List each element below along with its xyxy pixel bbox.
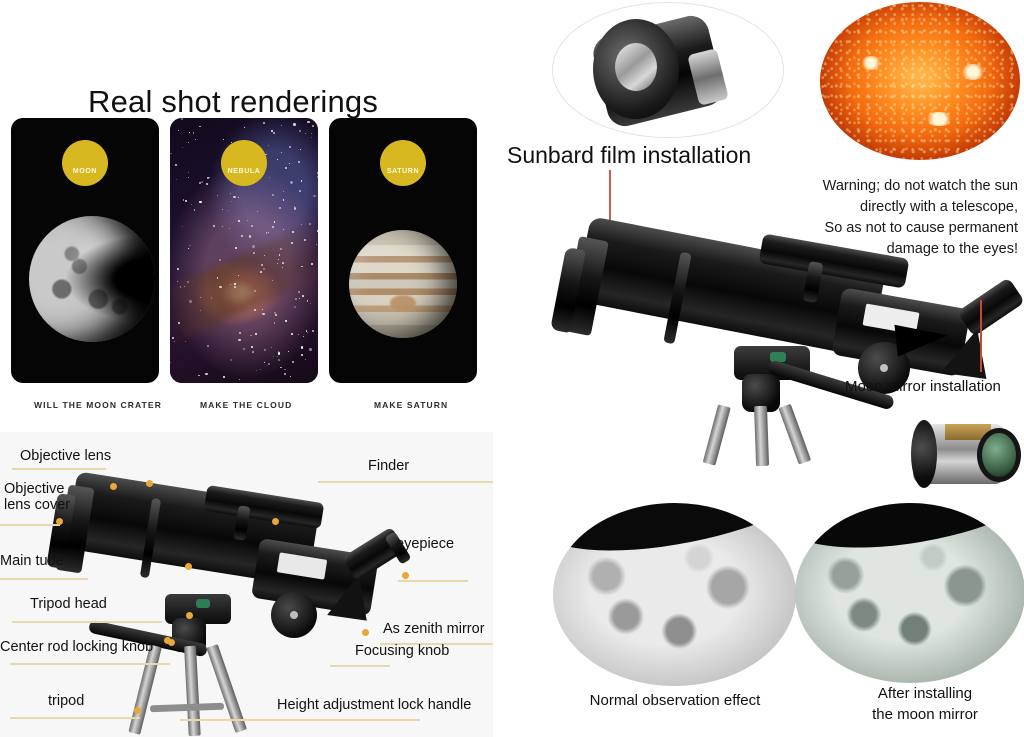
render-caption-nebula: MAKE THE CLOUD xyxy=(200,400,292,410)
photo-knob-center xyxy=(880,364,888,372)
render-card-saturn: SATURN xyxy=(329,118,477,383)
render-caption-moon: WILL THE MOON CRATER xyxy=(34,400,162,410)
moon-mirror-label: Moon mirror installation xyxy=(845,378,1001,395)
label-main-tube: Main tube xyxy=(0,553,64,569)
badge-label: SATURN xyxy=(387,168,419,175)
callout-lines xyxy=(0,432,493,737)
caption-after-moon-mirror: After installing the moon mirror xyxy=(845,683,1005,725)
sunbard-film-title: Sunbard film installation xyxy=(507,142,751,168)
badge-label: MOON xyxy=(73,168,97,175)
label-finder: Finder xyxy=(368,458,409,474)
badge-saturn: SATURN xyxy=(380,140,426,186)
moon-photo xyxy=(29,216,155,342)
parts-diagram-section: Objective lens Objective lens cover Main… xyxy=(0,432,493,737)
sun-flare-2 xyxy=(960,64,986,80)
infographic-page: Real shot renderings MOON NEBULA SAT xyxy=(0,0,1024,737)
photo-tripod-leg-right xyxy=(778,404,811,465)
moon-mirror-pointer-line xyxy=(980,300,982,372)
badge-moon: MOON xyxy=(62,140,108,186)
sun-granulation xyxy=(820,2,1020,160)
planet-storm-spot xyxy=(390,295,416,311)
planet-photo xyxy=(349,230,457,338)
moon-normal-photo xyxy=(553,503,796,686)
sun-flare-3 xyxy=(924,112,954,126)
photo-tripod-leg-left xyxy=(703,404,731,465)
pointer-arrow xyxy=(894,319,949,356)
label-as-zenith-mirror: As zenith mirror xyxy=(383,621,485,637)
moon-filter-green-glass xyxy=(977,428,1021,482)
real-shot-renderings-section: Real shot renderings MOON NEBULA SAT xyxy=(0,0,512,430)
render-card-moon: MOON xyxy=(11,118,159,383)
label-tripod: tripod xyxy=(48,693,84,709)
sun-filter-photo xyxy=(552,2,784,138)
render-caption-saturn: MAKE SATURN xyxy=(374,400,448,410)
moon-filter-photo xyxy=(905,398,1024,508)
sun-photo xyxy=(820,2,1020,160)
label-focusing-knob: Focusing knob xyxy=(355,643,449,659)
label-height-adjustment-lock-handle: Height adjustment lock handle xyxy=(277,697,471,713)
moon-filtered-photo xyxy=(795,503,1024,683)
filter-glass xyxy=(615,43,657,91)
label-objective-lens: Objective lens xyxy=(20,448,111,464)
label-tripod-head: Tripod head xyxy=(30,596,107,612)
badge-label: NEBULA xyxy=(228,168,261,175)
label-objective-lens-cover: Objective lens cover xyxy=(4,481,70,513)
caption-normal-observation: Normal observation effect xyxy=(560,690,790,711)
photo-tripod-leg-center xyxy=(754,406,769,466)
render-card-nebula: NEBULA xyxy=(170,118,318,383)
page-title: Real shot renderings xyxy=(88,84,378,120)
badge-nebula: NEBULA xyxy=(221,140,267,186)
moon-filter-front-ring xyxy=(911,420,937,488)
label-center-rod-locking-knob: Center rod locking knob xyxy=(0,639,153,655)
label-eyepiece: eyepiece xyxy=(396,536,454,552)
photo-eyepiece xyxy=(957,277,1024,337)
photo-zenith-mirror xyxy=(941,325,993,379)
sun-flare-1 xyxy=(860,56,882,70)
